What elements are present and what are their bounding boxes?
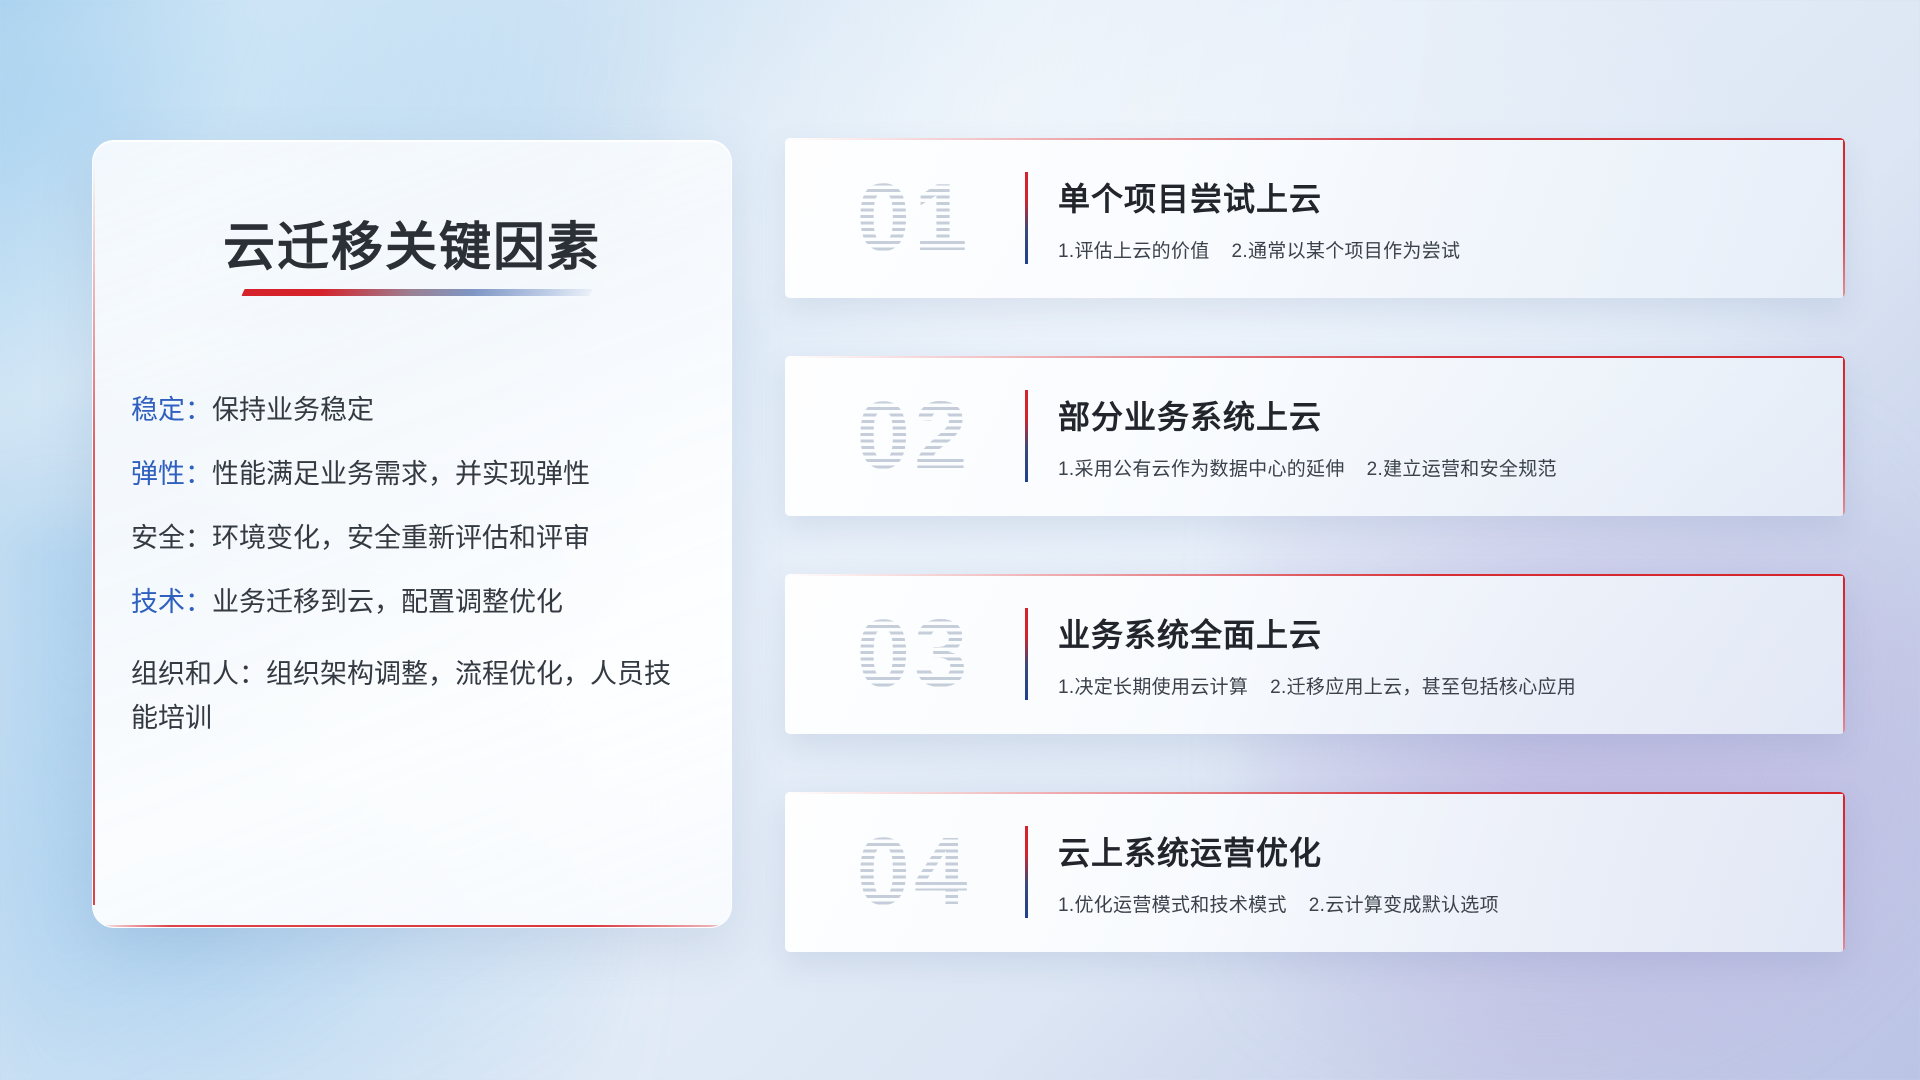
stage-description-part-1: 1.优化运营模式和技术模式 <box>1058 895 1287 916</box>
list-item-text: 业务迁移到云，配置调整优化 <box>212 587 563 617</box>
migration-stage-cards: 01 单个项目尝试上云 1.评估上云的价值2.通常以某个项目作为尝试 02 部 <box>785 138 1845 1010</box>
stage-description-part-2: 2.云计算变成默认选项 <box>1309 895 1499 916</box>
title-underline-accent <box>241 289 592 296</box>
stage-number-watermark: 02 <box>807 382 1021 490</box>
stage-title: 云上系统运营优化 <box>1058 828 1819 874</box>
stage-description-part-1: 1.决定长期使用云计算 <box>1058 677 1248 698</box>
stage-description: 1.优化运营模式和技术模式2.云计算变成默认选项 <box>1058 890 1819 917</box>
stage-description-part-2: 2.迁移应用上云，甚至包括核心应用 <box>1270 677 1576 698</box>
list-item-label: 稳定： <box>131 395 212 425</box>
stage-number-watermark: 01 <box>807 164 1021 272</box>
list-item-text: 性能满足业务需求，并实现弹性 <box>212 459 590 489</box>
stage-title: 单个项目尝试上云 <box>1058 174 1819 220</box>
stage-divider-accent <box>1025 390 1028 482</box>
stage-title: 业务系统全面上云 <box>1058 610 1819 656</box>
stage-title: 部分业务系统上云 <box>1058 392 1819 438</box>
stage-divider-accent <box>1025 172 1028 264</box>
stage-description: 1.评估上云的价值2.通常以某个项目作为尝试 <box>1058 236 1819 263</box>
stage-number-watermark: 04 <box>807 818 1021 926</box>
stage-card[interactable]: 03 业务系统全面上云 1.决定长期使用云计算2.迁移应用上云，甚至包括核心应用 <box>785 574 1845 734</box>
list-item: 技术：业务迁移到云，配置调整优化 <box>131 589 697 616</box>
slide-canvas: 云迁移关键因素 稳定：保持业务稳定 弹性：性能满足业务需求，并实现弹性 安全：环… <box>0 0 1920 1080</box>
list-item-label: 弹性： <box>131 459 212 489</box>
stage-number-watermark: 03 <box>807 600 1021 708</box>
stage-description: 1.决定长期使用云计算2.迁移应用上云，甚至包括核心应用 <box>1058 672 1819 699</box>
key-factors-list: 稳定：保持业务稳定 弹性：性能满足业务需求，并实现弹性 安全：环境变化，安全重新… <box>131 397 697 777</box>
stage-description-part-1: 1.评估上云的价值 <box>1058 241 1210 262</box>
stage-description-part-2: 2.通常以某个项目作为尝试 <box>1232 241 1461 262</box>
list-item-label: 组织和人： <box>131 659 266 689</box>
key-factors-panel: 云迁移关键因素 稳定：保持业务稳定 弹性：性能满足业务需求，并实现弹性 安全：环… <box>92 140 732 928</box>
stage-card[interactable]: 01 单个项目尝试上云 1.评估上云的价值2.通常以某个项目作为尝试 <box>785 138 1845 298</box>
stage-card[interactable]: 04 云上系统运营优化 1.优化运营模式和技术模式2.云计算变成默认选项 <box>785 792 1845 952</box>
list-item: 组织和人：组织架构调整，流程优化，人员技能培训 <box>131 653 697 740</box>
stage-card[interactable]: 02 部分业务系统上云 1.采用公有云作为数据中心的延伸2.建立运营和安全规范 <box>785 356 1845 516</box>
stage-divider-accent <box>1025 608 1028 700</box>
stage-description-part-1: 1.采用公有云作为数据中心的延伸 <box>1058 459 1345 480</box>
list-item-text: 环境变化，安全重新评估和评审 <box>212 523 590 553</box>
stage-description-part-2: 2.建立运营和安全规范 <box>1367 459 1557 480</box>
list-item: 弹性：性能满足业务需求，并实现弹性 <box>131 461 697 488</box>
list-item-label: 技术： <box>131 587 212 617</box>
stage-divider-accent <box>1025 826 1028 918</box>
panel-title: 云迁移关键因素 <box>93 205 731 280</box>
stage-description: 1.采用公有云作为数据中心的延伸2.建立运营和安全规范 <box>1058 454 1819 481</box>
list-item-label: 安全： <box>131 523 212 553</box>
list-item: 安全：环境变化，安全重新评估和评审 <box>131 525 697 552</box>
list-item: 稳定：保持业务稳定 <box>131 397 697 424</box>
list-item-text: 保持业务稳定 <box>212 395 374 425</box>
